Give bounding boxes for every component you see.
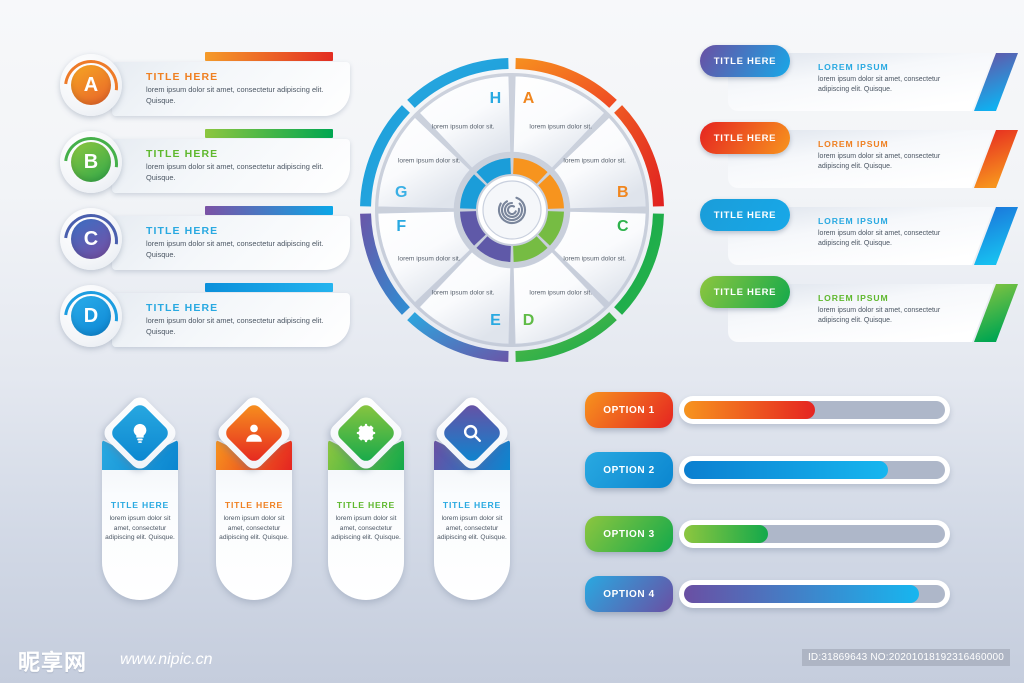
- card-title: TITLE HERE: [146, 148, 218, 160]
- card-title: TITLE HERE: [146, 302, 218, 314]
- wheel-label-e: E: [490, 312, 501, 330]
- panel-description: lorem ipsum dolor sit amet, consectetur …: [818, 229, 968, 249]
- card-title: TITLE HERE: [428, 500, 516, 510]
- wheel-text-a: lorem ipsum dolor sit.: [526, 123, 596, 132]
- wheel-label-g: G: [395, 184, 407, 202]
- panel-title: LOREM IPSUM: [818, 293, 889, 303]
- card-description: lorem ipsum dolor sit amet, consectetur …: [218, 514, 290, 543]
- left-card-a[interactable]: TITLE HERElorem ipsum dolor sit amet, co…: [60, 52, 350, 118]
- wheel-label-a: A: [523, 90, 535, 108]
- card-title: TITLE HERE: [96, 500, 184, 510]
- card-letter-badge[interactable]: D: [60, 285, 122, 347]
- card-description: lorem ipsum dolor sit amet, consectetur …: [146, 85, 341, 106]
- icon-card-2[interactable]: TITLE HERElorem ipsum dolor sit amet, co…: [210, 400, 298, 600]
- left-card-b[interactable]: TITLE HERElorem ipsum dolor sit amet, co…: [60, 129, 350, 195]
- card-description: lorem ipsum dolor sit amet, consectetur …: [436, 514, 508, 543]
- wheel-text-b: lorem ipsum dolor sit.: [560, 157, 630, 166]
- wheel-text-d: lorem ipsum dolor sit.: [526, 288, 596, 297]
- icon-card-3[interactable]: TITLE HERElorem ipsum dolor sit amet, co…: [322, 400, 410, 600]
- wheel-svg: [357, 55, 667, 365]
- card-accent-bar: [205, 206, 333, 215]
- user-icon: [232, 411, 276, 455]
- progress-label[interactable]: OPTION 2: [585, 452, 673, 488]
- progress-groove: [684, 525, 945, 543]
- progress-row-4[interactable]: OPTION 4: [585, 576, 950, 616]
- lightbulb-icon: [118, 411, 162, 455]
- card-title: TITLE HERE: [146, 225, 218, 237]
- progress-groove: [684, 461, 945, 479]
- wheel-label-h: H: [490, 90, 502, 108]
- watermark-url: www.nipic.cn: [120, 651, 212, 669]
- gear-icon: [344, 411, 388, 455]
- panel-title: LOREM IPSUM: [818, 216, 889, 226]
- progress-row-1[interactable]: OPTION 1: [585, 392, 950, 432]
- wheel-label-f: F: [396, 218, 406, 236]
- panel-pill[interactable]: TITLE HERE: [700, 199, 790, 231]
- progress-groove: [684, 401, 945, 419]
- progress-fill: [684, 461, 888, 479]
- wheel-label-d: D: [523, 312, 535, 330]
- card-accent-bar: [205, 283, 333, 292]
- card-title: TITLE HERE: [322, 500, 410, 510]
- card-letter-badge[interactable]: B: [60, 131, 122, 193]
- wheel-label-c: C: [617, 218, 629, 236]
- card-description: lorem ipsum dolor sit amet, consectetur …: [146, 316, 341, 337]
- progress-fill: [684, 401, 815, 419]
- panel-pill[interactable]: TITLE HERE: [700, 122, 790, 154]
- progress-fill: [684, 585, 919, 603]
- right-panel-2[interactable]: TITLE HERELOREM IPSUMlorem ipsum dolor s…: [700, 122, 1024, 188]
- panel-pill[interactable]: TITLE HERE: [700, 276, 790, 308]
- panel-description: lorem ipsum dolor sit amet, consectetur …: [818, 306, 968, 326]
- progress-groove: [684, 585, 945, 603]
- panel-title: LOREM IPSUM: [818, 62, 889, 72]
- progress-track[interactable]: [679, 580, 950, 608]
- watermark-logo: 昵享网: [18, 645, 87, 677]
- left-card-c[interactable]: TITLE HERElorem ipsum dolor sit amet, co…: [60, 206, 350, 272]
- circular-wheel-diagram: Alorem ipsum dolor sit.Blorem ipsum dolo…: [357, 55, 667, 365]
- progress-track[interactable]: [679, 396, 950, 424]
- panel-title: LOREM IPSUM: [818, 139, 889, 149]
- progress-track[interactable]: [679, 520, 950, 548]
- wheel-label-b: B: [617, 184, 629, 202]
- right-panel-4[interactable]: TITLE HERELOREM IPSUMlorem ipsum dolor s…: [700, 276, 1024, 342]
- panel-description: lorem ipsum dolor sit amet, consectetur …: [818, 75, 968, 95]
- right-panel-1[interactable]: TITLE HERELOREM IPSUMlorem ipsum dolor s…: [700, 45, 1024, 111]
- card-letter-badge[interactable]: C: [60, 208, 122, 270]
- card-accent-bar: [205, 129, 333, 138]
- progress-label[interactable]: OPTION 3: [585, 516, 673, 552]
- wheel-text-g: lorem ipsum dolor sit.: [394, 157, 464, 166]
- progress-track[interactable]: [679, 456, 950, 484]
- wheel-text-f: lorem ipsum dolor sit.: [394, 254, 464, 263]
- card-accent-bar: [205, 52, 333, 61]
- wheel-text-c: lorem ipsum dolor sit.: [560, 254, 630, 263]
- card-letter-badge[interactable]: A: [60, 54, 122, 116]
- footer-watermark: 昵享网 www.nipic.cn ID:31869643 NO:20201018…: [0, 637, 1024, 683]
- search-icon: [450, 411, 494, 455]
- card-title: TITLE HERE: [210, 500, 298, 510]
- progress-row-3[interactable]: OPTION 3: [585, 516, 950, 556]
- card-title: TITLE HERE: [146, 71, 218, 83]
- right-panel-3[interactable]: TITLE HERELOREM IPSUMlorem ipsum dolor s…: [700, 199, 1024, 265]
- progress-fill: [684, 525, 768, 543]
- left-card-d[interactable]: TITLE HERElorem ipsum dolor sit amet, co…: [60, 283, 350, 349]
- wheel-text-e: lorem ipsum dolor sit.: [428, 288, 498, 297]
- icon-card-4[interactable]: TITLE HERElorem ipsum dolor sit amet, co…: [428, 400, 516, 600]
- progress-label[interactable]: OPTION 1: [585, 392, 673, 428]
- card-description: lorem ipsum dolor sit amet, consectetur …: [330, 514, 402, 543]
- progress-row-2[interactable]: OPTION 2: [585, 452, 950, 492]
- wheel-text-h: lorem ipsum dolor sit.: [428, 123, 498, 132]
- card-description: lorem ipsum dolor sit amet, consectetur …: [146, 239, 341, 260]
- watermark-id: ID:31869643 NO:20201018192316460000: [802, 649, 1010, 666]
- panel-pill[interactable]: TITLE HERE: [700, 45, 790, 77]
- card-description: lorem ipsum dolor sit amet, consectetur …: [104, 514, 176, 543]
- progress-label[interactable]: OPTION 4: [585, 576, 673, 612]
- icon-card-1[interactable]: TITLE HERElorem ipsum dolor sit amet, co…: [96, 400, 184, 600]
- infographic-canvas: TITLE HERElorem ipsum dolor sit amet, co…: [0, 0, 1024, 683]
- card-description: lorem ipsum dolor sit amet, consectetur …: [146, 162, 341, 183]
- wheel-hub[interactable]: [483, 181, 541, 239]
- panel-description: lorem ipsum dolor sit amet, consectetur …: [818, 152, 968, 172]
